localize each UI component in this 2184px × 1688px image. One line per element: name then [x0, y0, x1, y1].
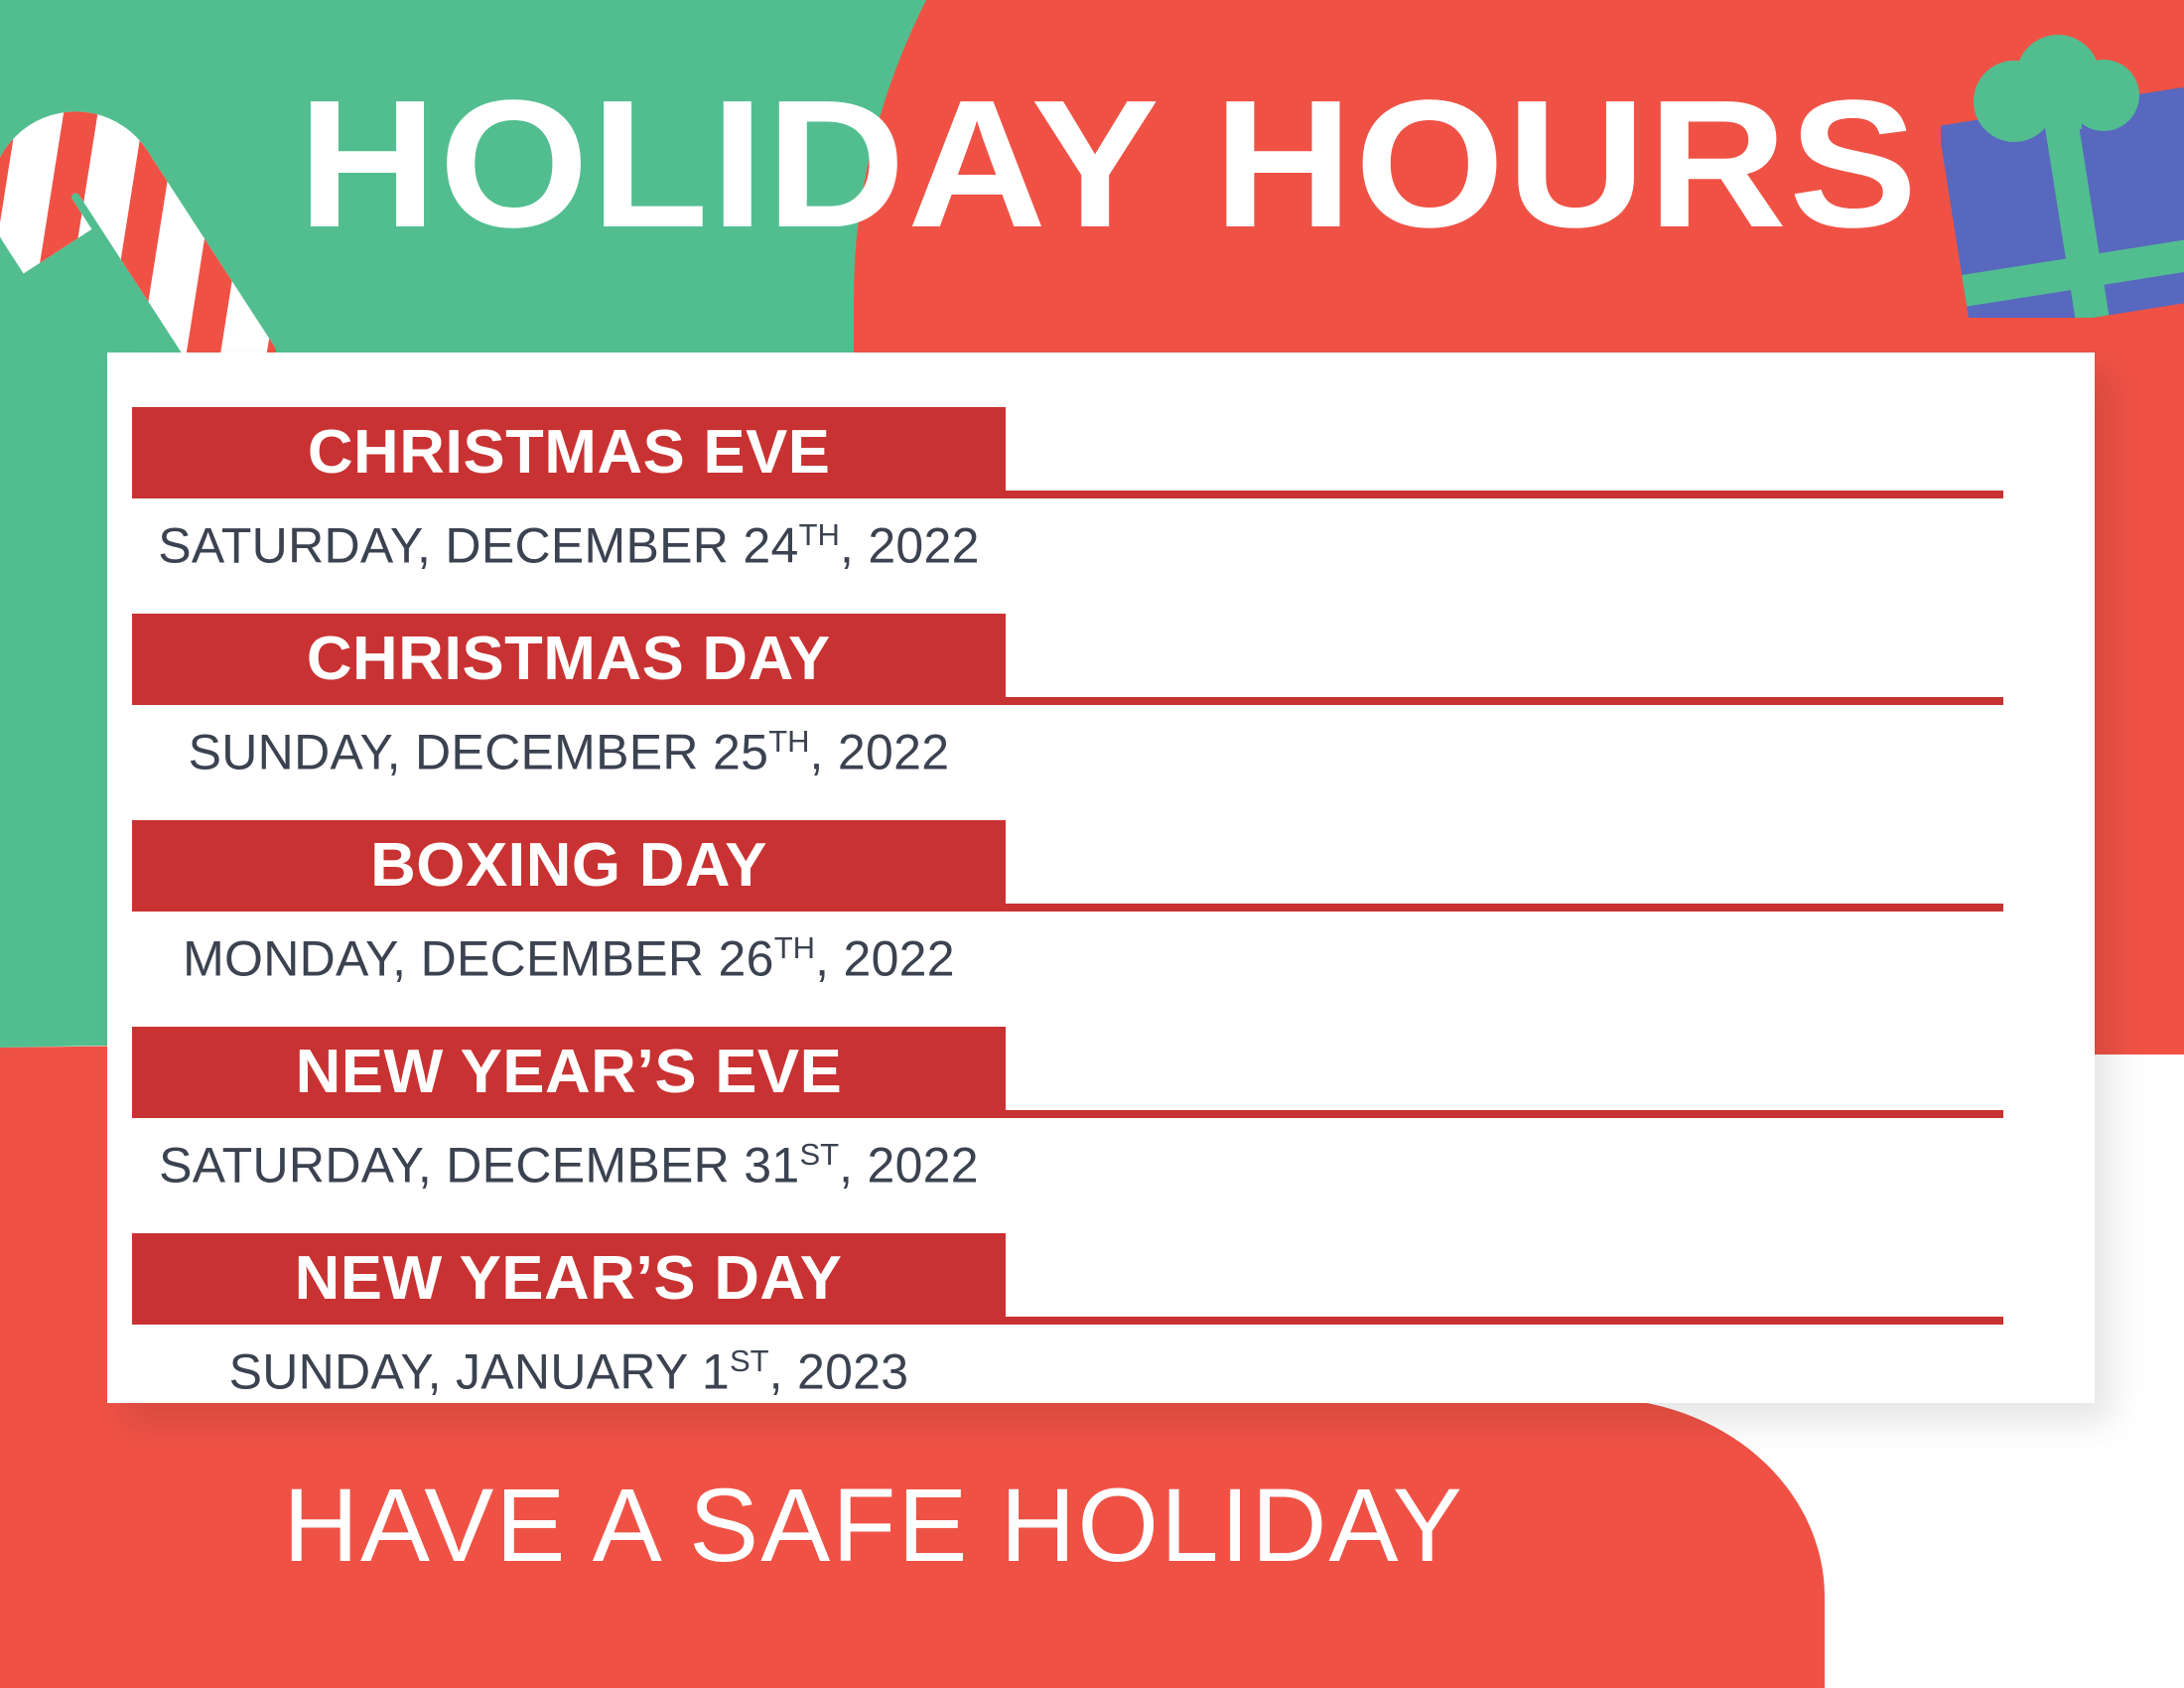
holiday-date-weekday: MONDAY, DECEMBER 26 — [183, 931, 774, 987]
schedule-row: NEW YEAR’S EVE SATURDAY, DECEMBER 31ST, … — [107, 1027, 2095, 1233]
hours-write-in-rule — [1006, 1110, 2003, 1118]
holiday-name-bar: CHRISTMAS DAY — [132, 614, 1006, 705]
holiday-name-label: CHRISTMAS EVE — [308, 422, 831, 484]
holiday-name-bar: CHRISTMAS EVE — [132, 407, 1006, 498]
page-title: HOLIDAY HOURS — [298, 70, 2023, 258]
holiday-name-bar: NEW YEAR’S DAY — [132, 1233, 1006, 1325]
holiday-date-year: , 2023 — [769, 1344, 909, 1400]
holiday-date-ordinal: TH — [768, 724, 809, 759]
holiday-date-label: SATURDAY, DECEMBER 24TH, 2022 — [132, 504, 1006, 577]
holiday-date-ordinal: ST — [730, 1343, 769, 1378]
holiday-date-year: , 2022 — [810, 725, 950, 780]
schedule-row: CHRISTMAS DAY SUNDAY, DECEMBER 25TH, 202… — [107, 614, 2095, 820]
holiday-name-label: BOXING DAY — [370, 835, 767, 897]
holiday-name-bar: NEW YEAR’S EVE — [132, 1027, 1006, 1118]
schedule-list: CHRISTMAS EVE SATURDAY, DECEMBER 24TH, 2… — [107, 352, 2095, 1403]
holiday-date-year: , 2022 — [839, 1138, 979, 1194]
schedule-row: BOXING DAY MONDAY, DECEMBER 26TH, 2022 — [107, 820, 2095, 1027]
schedule-card: CHRISTMAS EVE SATURDAY, DECEMBER 24TH, 2… — [107, 352, 2095, 1403]
holiday-name-bar: BOXING DAY — [132, 820, 1006, 912]
holiday-date-ordinal: TH — [799, 517, 840, 552]
holiday-date-label: SATURDAY, DECEMBER 31ST, 2022 — [132, 1124, 1006, 1196]
hours-write-in-rule — [1006, 697, 2003, 705]
holiday-date-ordinal: ST — [799, 1137, 839, 1172]
holiday-date-ordinal: TH — [774, 930, 815, 965]
holiday-date-weekday: SUNDAY, JANUARY 1 — [229, 1344, 730, 1400]
holiday-date-weekday: SATURDAY, DECEMBER 31 — [159, 1138, 799, 1194]
holiday-date-weekday: SUNDAY, DECEMBER 25 — [189, 725, 769, 780]
footer-message: HAVE A SAFE HOLIDAY — [0, 1468, 1747, 1585]
holiday-date-year: , 2022 — [815, 931, 955, 987]
schedule-row: NEW YEAR’S DAY SUNDAY, JANUARY 1ST, 2023 — [107, 1233, 2095, 1440]
holiday-name-label: CHRISTMAS DAY — [307, 629, 831, 690]
hours-write-in-rule — [1006, 491, 2003, 498]
holiday-date-label: SUNDAY, DECEMBER 25TH, 2022 — [132, 711, 1006, 783]
holiday-date-label: SUNDAY, JANUARY 1ST, 2023 — [132, 1331, 1006, 1403]
holiday-name-label: NEW YEAR’S EVE — [296, 1042, 843, 1103]
hours-write-in-rule — [1006, 1317, 2003, 1325]
holiday-name-label: NEW YEAR’S DAY — [295, 1248, 843, 1310]
holiday-hours-poster: HOLIDAY HOURS CHRISTMAS EVE SATURDAY, DE… — [0, 0, 2184, 1688]
holiday-date-year: , 2022 — [840, 518, 980, 574]
holiday-date-weekday: SATURDAY, DECEMBER 24 — [158, 518, 798, 574]
schedule-row: CHRISTMAS EVE SATURDAY, DECEMBER 24TH, 2… — [107, 407, 2095, 614]
hours-write-in-rule — [1006, 904, 2003, 912]
holiday-date-label: MONDAY, DECEMBER 26TH, 2022 — [132, 917, 1006, 990]
